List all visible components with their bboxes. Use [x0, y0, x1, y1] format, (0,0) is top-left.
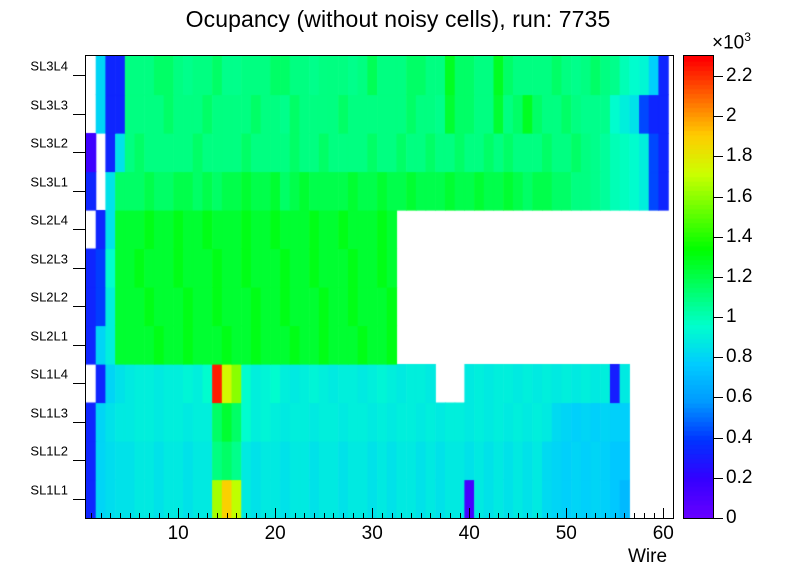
x-axis-minor-tick: [333, 513, 334, 519]
colorbar-tick: [714, 237, 723, 238]
x-axis-minor-tick: [363, 513, 364, 519]
x-axis-minor-tick: [557, 513, 558, 519]
colorbar-canvas: [684, 56, 713, 518]
y-axis-tick-label-sl1l2: SL1L2: [0, 444, 68, 459]
x-axis-major-tick: [275, 508, 276, 519]
x-axis-minor-tick: [236, 513, 237, 519]
colorbar-tick-label: 0: [726, 507, 737, 529]
x-axis-minor-tick: [304, 513, 305, 519]
x-axis-tick-label: 40: [459, 523, 480, 545]
colorbar-tick-label: 1.4: [726, 226, 752, 248]
x-axis-tick-label: 60: [653, 523, 674, 545]
y-axis-tick-label-sl2l3: SL2L3: [0, 251, 68, 266]
x-axis-minor-tick: [265, 513, 266, 519]
colorbar-tick-label: 0.4: [726, 427, 752, 449]
y-axis-tick: [73, 229, 85, 230]
heatmap-canvas: [86, 56, 673, 518]
colorbar-tick-label: 1: [726, 306, 737, 328]
colorbar-tick: [714, 116, 723, 117]
x-axis-minor-tick: [498, 513, 499, 519]
x-axis-minor-tick: [285, 513, 286, 519]
x-axis-minor-tick: [460, 513, 461, 519]
x-axis-minor-tick: [654, 513, 655, 519]
y-axis-tick: [73, 460, 85, 461]
x-axis-tick-label: 30: [362, 523, 383, 545]
y-axis-tick: [73, 268, 85, 269]
x-axis-minor-tick: [139, 513, 140, 519]
x-axis-major-tick: [178, 508, 179, 519]
x-axis-minor-tick: [440, 513, 441, 519]
x-axis-major-tick: [469, 508, 470, 519]
x-axis-minor-tick: [246, 513, 247, 519]
x-axis-minor-tick: [489, 513, 490, 519]
x-axis-minor-tick: [314, 513, 315, 519]
y-axis-tick-label-sl2l2: SL2L2: [0, 290, 68, 305]
colorbar-tick-label: 1.8: [726, 145, 752, 167]
colorbar-tick: [714, 277, 723, 278]
page-title: Ocupancy (without noisy cells), run: 773…: [0, 6, 796, 33]
x-axis-minor-tick: [392, 513, 393, 519]
colorbar-exponent: ×103: [712, 30, 751, 54]
x-axis-minor-tick: [518, 513, 519, 519]
x-axis-major-tick: [663, 508, 664, 519]
x-axis-minor-tick: [615, 513, 616, 519]
x-axis-minor-tick: [430, 513, 431, 519]
x-axis-minor-tick: [343, 513, 344, 519]
x-axis-tick-label: 20: [265, 523, 286, 545]
x-axis-minor-tick: [91, 513, 92, 519]
y-axis-tick-label-sl3l2: SL3L2: [0, 136, 68, 151]
x-axis-minor-tick: [537, 513, 538, 519]
x-axis-minor-tick: [411, 513, 412, 519]
x-axis-minor-tick: [149, 513, 150, 519]
y-axis-tick: [73, 114, 85, 115]
colorbar: [683, 55, 714, 519]
root-canvas: Ocupancy (without noisy cells), run: 773…: [0, 0, 796, 572]
y-axis-tick: [73, 345, 85, 346]
colorbar-tick-label: 0.6: [726, 386, 752, 408]
x-axis-minor-tick: [450, 513, 451, 519]
x-axis-minor-tick: [110, 513, 111, 519]
x-axis-major-tick: [566, 508, 567, 519]
x-axis-minor-tick: [130, 513, 131, 519]
colorbar-tick-label: 0.8: [726, 346, 752, 368]
x-axis-minor-tick: [576, 513, 577, 519]
colorbar-tick: [714, 438, 723, 439]
x-axis-tick-label: 10: [168, 523, 189, 545]
y-axis-tick: [73, 422, 85, 423]
x-axis-minor-tick: [547, 513, 548, 519]
colorbar-tick: [714, 197, 723, 198]
colorbar-tick-label: 0.2: [726, 467, 752, 489]
y-axis-tick: [73, 306, 85, 307]
x-axis-minor-tick: [605, 513, 606, 519]
x-axis-minor-tick: [207, 513, 208, 519]
colorbar-tick: [714, 478, 723, 479]
x-axis-minor-tick: [217, 513, 218, 519]
x-axis-minor-tick: [120, 513, 121, 519]
colorbar-tick: [714, 76, 723, 77]
x-axis-minor-tick: [324, 513, 325, 519]
colorbar-tick: [714, 518, 723, 519]
x-axis-minor-tick: [188, 513, 189, 519]
x-axis-minor-tick: [634, 513, 635, 519]
x-axis-minor-tick: [595, 513, 596, 519]
x-axis-major-tick: [372, 508, 373, 519]
x-axis-minor-tick: [159, 513, 160, 519]
x-axis-minor-tick: [508, 513, 509, 519]
colorbar-tick: [714, 357, 723, 358]
colorbar-tick-label: 1.6: [726, 186, 752, 208]
y-axis-tick-label-sl3l1: SL3L1: [0, 174, 68, 189]
x-axis-minor-tick: [101, 513, 102, 519]
x-axis-minor-tick: [168, 513, 169, 519]
y-axis-tick-label-sl1l1: SL1L1: [0, 482, 68, 497]
x-axis-minor-tick: [382, 513, 383, 519]
y-axis-tick: [73, 75, 85, 76]
colorbar-tick: [714, 317, 723, 318]
x-axis-minor-tick: [586, 513, 587, 519]
colorbar-tick-label: 2.2: [726, 65, 752, 87]
y-axis-tick-label-sl2l1: SL2L1: [0, 328, 68, 343]
x-axis-title: Wire: [628, 546, 667, 568]
y-axis-tick: [73, 191, 85, 192]
x-axis-minor-tick: [256, 513, 257, 519]
x-axis-minor-tick: [527, 513, 528, 519]
x-axis-minor-tick: [479, 513, 480, 519]
colorbar-tick: [714, 397, 723, 398]
x-axis-minor-tick: [624, 513, 625, 519]
x-axis-minor-tick: [421, 513, 422, 519]
y-axis-tick-label-sl3l4: SL3L4: [0, 59, 68, 74]
x-axis-minor-tick: [295, 513, 296, 519]
colorbar-exponent-power: 3: [744, 30, 751, 44]
x-axis-minor-tick: [198, 513, 199, 519]
y-axis-tick-label-sl3l3: SL3L3: [0, 97, 68, 112]
y-axis-tick-label-sl1l4: SL1L4: [0, 367, 68, 382]
y-axis-tick: [73, 152, 85, 153]
y-axis-tick-label-sl2l4: SL2L4: [0, 213, 68, 228]
y-axis-tick: [73, 499, 85, 500]
colorbar-tick-label: 1.2: [726, 266, 752, 288]
x-axis-minor-tick: [353, 513, 354, 519]
x-axis-tick-label: 50: [556, 523, 577, 545]
y-axis-tick: [73, 383, 85, 384]
colorbar-exponent-base: ×10: [712, 32, 744, 53]
y-axis-tick-label-sl1l3: SL1L3: [0, 405, 68, 420]
heatmap-plot-area: [85, 55, 674, 519]
colorbar-tick-label: 2: [726, 105, 737, 127]
colorbar-tick: [714, 156, 723, 157]
x-axis-minor-tick: [227, 513, 228, 519]
x-axis-minor-tick: [401, 513, 402, 519]
x-axis-minor-tick: [644, 513, 645, 519]
